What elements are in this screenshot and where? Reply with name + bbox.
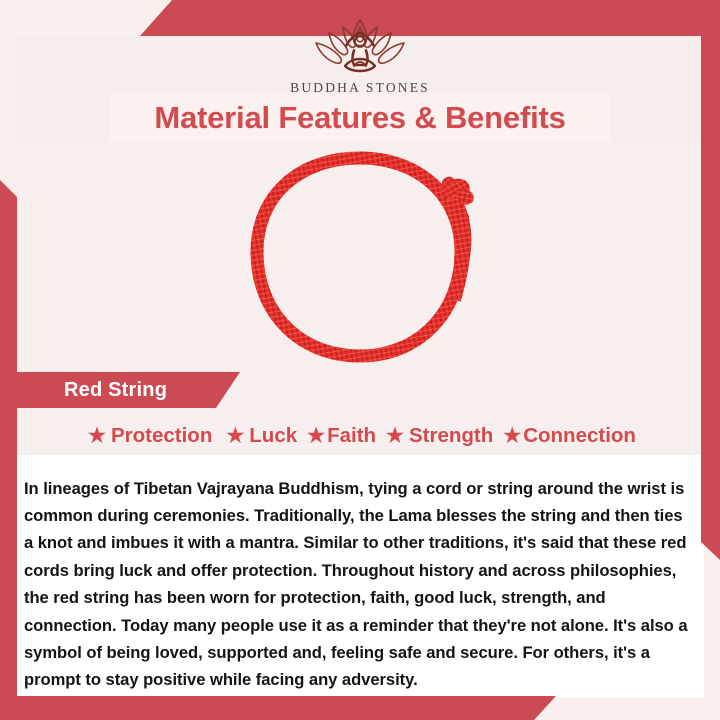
lotus-meditation-figure-icon (296, 16, 424, 78)
feature-item-protection: ★ Protection (81, 424, 219, 448)
feature-label: Protection (111, 424, 212, 448)
feature-item-strength: ★ Strength (379, 424, 500, 448)
description-paragraph: In lineages of Tibetan Vajrayana Buddhis… (24, 475, 694, 694)
star-icon: ★ (503, 426, 521, 446)
decor-bar-left (0, 180, 17, 720)
red-braided-string-bracelet-icon (229, 144, 491, 372)
star-icon: ★ (307, 426, 325, 446)
feature-label: Strength (409, 424, 493, 448)
star-icon: ★ (88, 426, 106, 446)
feature-label: Connection (523, 424, 636, 448)
feature-label: Faith (327, 424, 376, 448)
star-icon: ★ (226, 426, 244, 446)
decor-bar-bottom (0, 696, 556, 720)
product-name: Red String (64, 379, 167, 402)
product-image (16, 142, 704, 374)
star-icon: ★ (386, 426, 404, 446)
poster-root: BUDDHA STONES Material Features & Benefi… (0, 0, 720, 720)
title-banner: Material Features & Benefits (110, 94, 610, 142)
brand-logo: BUDDHA STONES (0, 16, 720, 96)
page-title: Material Features & Benefits (154, 100, 565, 136)
feature-label: Luck (249, 424, 297, 448)
feature-item-faith: ★ Faith (304, 424, 379, 448)
features-list: ★ Protection ★ Luck ★ Faith ★ Strength ★… (16, 418, 704, 454)
feature-item-connection: ★ Connection (500, 424, 639, 448)
product-name-ribbon: Red String (0, 372, 240, 408)
feature-item-luck: ★ Luck (219, 424, 304, 448)
